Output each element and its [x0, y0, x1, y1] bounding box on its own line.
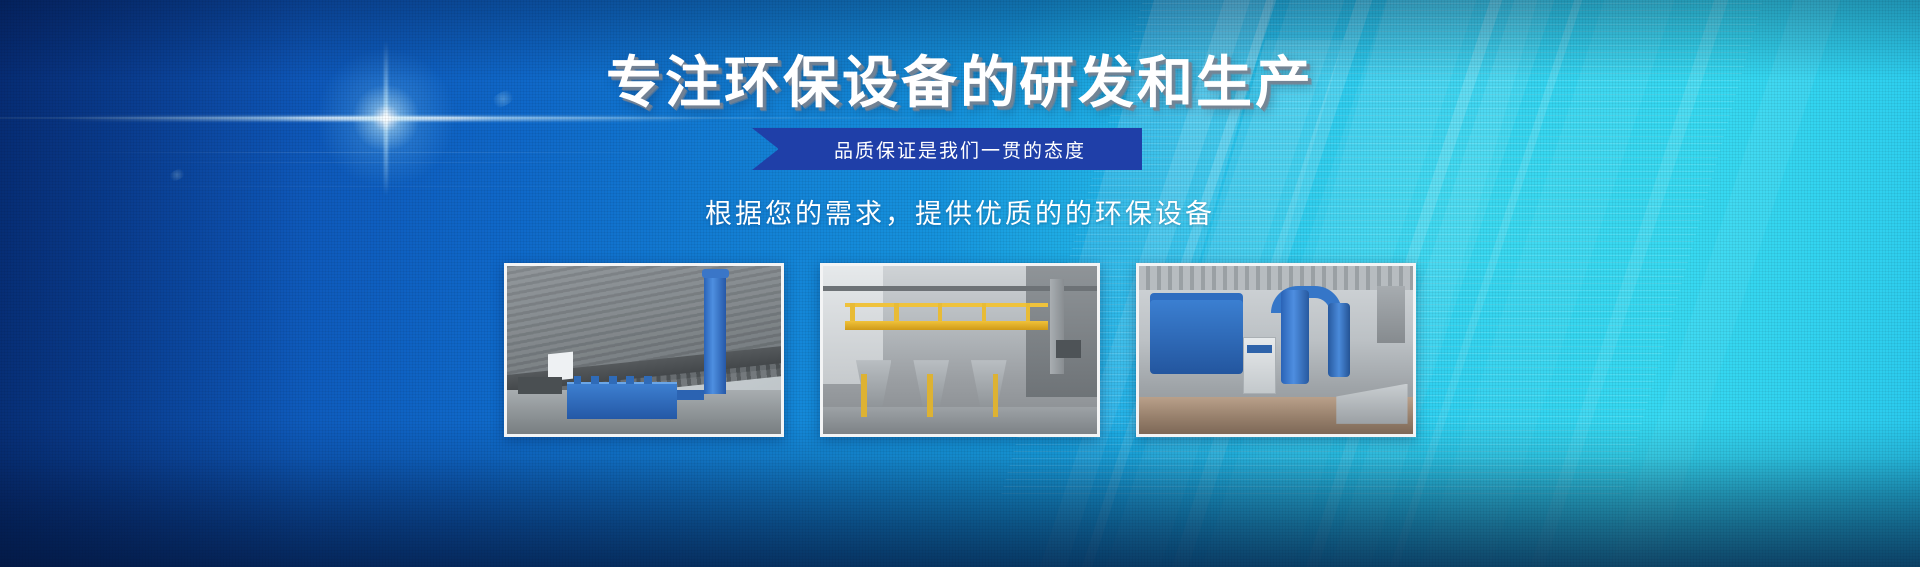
gallery-photo-3[interactable]	[1136, 263, 1416, 437]
gallery-photo-1[interactable]	[504, 263, 784, 437]
banner-headline: 专注环保设备的研发和生产	[606, 56, 1314, 112]
gallery-photo-2[interactable]	[820, 263, 1100, 437]
banner-subline: 根据您的需求，提供优质的的环保设备	[705, 192, 1215, 231]
banner-ribbon: 品质保证是我们一贯的态度	[778, 128, 1142, 170]
ribbon-body: 品质保证是我们一贯的态度	[778, 128, 1142, 170]
banner-content: 专注环保设备的研发和生产 品质保证是我们一贯的态度 根据您的需求，提供优质的的环…	[0, 0, 1920, 567]
ribbon-label: 品质保证是我们一贯的态度	[834, 136, 1086, 163]
photo-gallery	[504, 263, 1416, 437]
hero-banner: 专注环保设备的研发和生产 品质保证是我们一贯的态度 根据您的需求，提供优质的的环…	[0, 0, 1920, 567]
